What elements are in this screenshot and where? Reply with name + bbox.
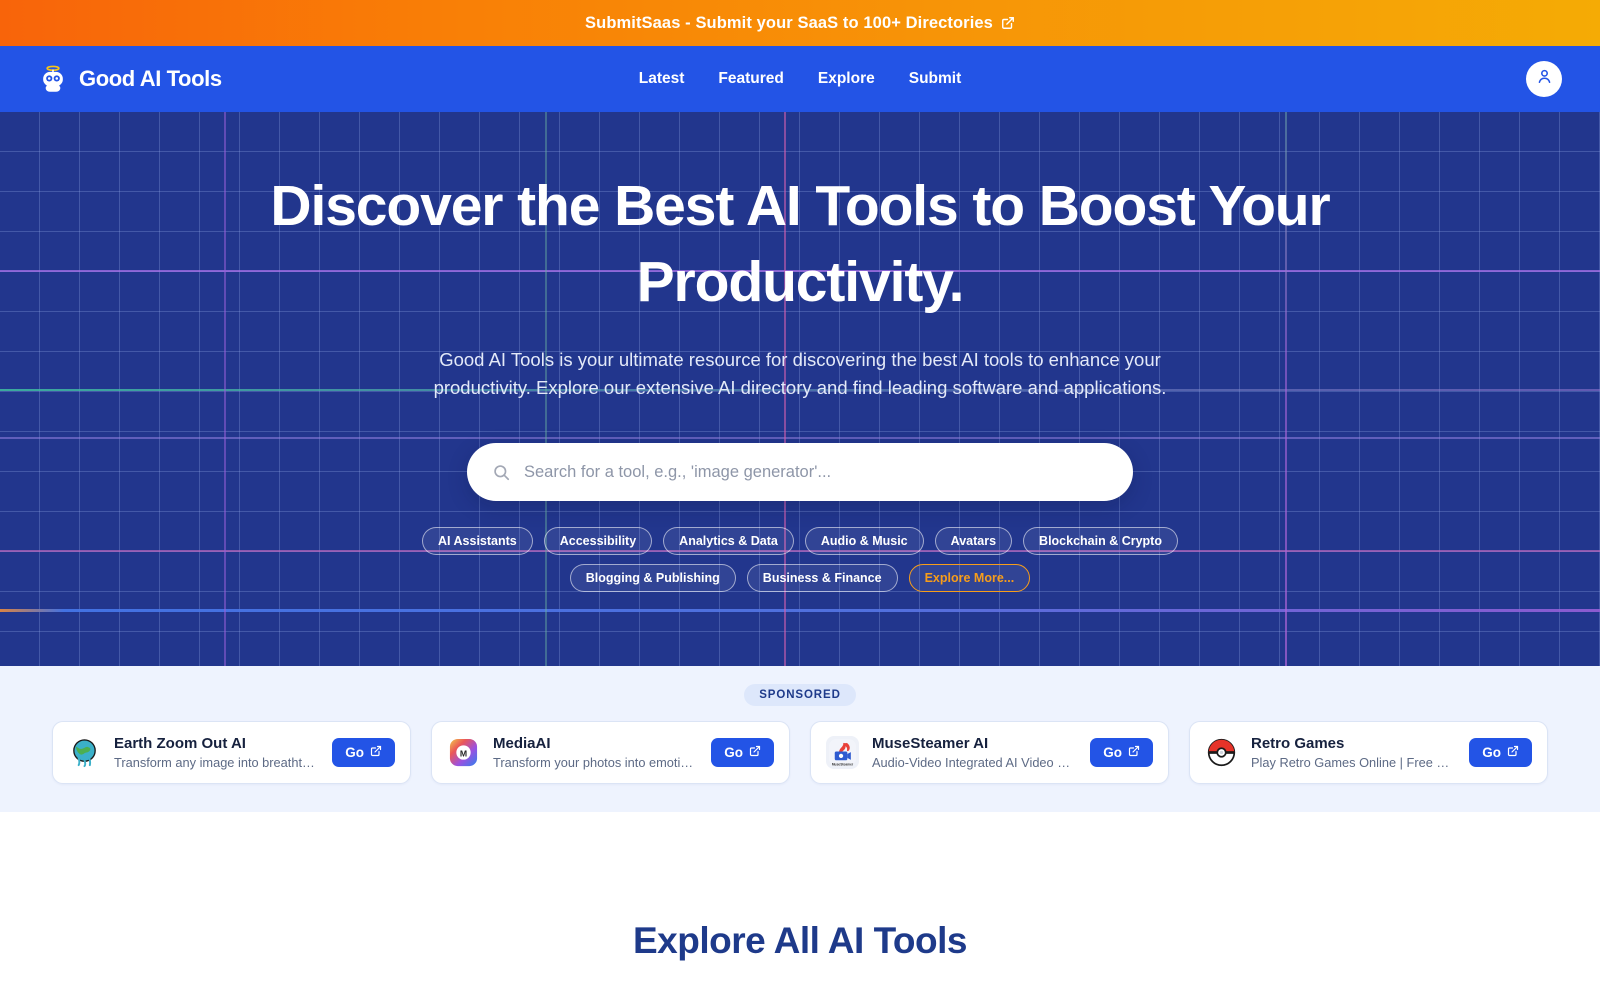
sponsored-card-list: Earth Zoom Out AI Transform any image in… (0, 721, 1600, 784)
promo-banner[interactable]: SubmitSaas - Submit your SaaS to 100+ Di… (0, 0, 1600, 46)
sponsored-card-description: Audio-Video Integrated AI Video Generato… (872, 755, 1077, 770)
user-icon (1535, 67, 1554, 91)
sponsored-card-description: Play Retro Games Online | Free Browser… (1251, 755, 1456, 770)
category-chip-audio-music[interactable]: Audio & Music (805, 527, 924, 555)
sponsored-section: SPONSORED Earth Zoom Out AI Transform an… (0, 666, 1600, 812)
category-chip-analytics-data[interactable]: Analytics & Data (663, 527, 794, 555)
musesteamer-icon: MuseSteamer (826, 736, 859, 769)
accent-line-blue (0, 609, 1600, 612)
category-chip-ai-assistants[interactable]: AI Assistants (422, 527, 533, 555)
sponsored-go-label: Go (724, 745, 743, 760)
sponsored-go-button[interactable]: Go (1469, 738, 1532, 767)
sponsored-card-title: MuseSteamer AI (872, 735, 1077, 752)
explore-section-title: Explore All AI Tools (0, 920, 1600, 962)
brand-name: Good AI Tools (79, 66, 222, 92)
external-link-icon (1001, 16, 1015, 30)
mediaai-gradient-icon: M (447, 736, 480, 769)
search-bar[interactable] (467, 443, 1133, 501)
category-chip-business-finance[interactable]: Business & Finance (747, 564, 898, 592)
sponsored-go-label: Go (345, 745, 364, 760)
nav-item-submit[interactable]: Submit (909, 70, 962, 88)
nav-item-latest[interactable]: Latest (639, 70, 685, 88)
sponsored-card-title: Retro Games (1251, 735, 1456, 752)
hero-section: Discover the Best AI Tools to Boost Your… (0, 112, 1600, 666)
sponsored-card-description: Transform any image into breathtaking E… (114, 755, 319, 770)
external-link-icon (749, 745, 761, 760)
robot-halo-icon (38, 64, 68, 94)
promo-banner-label: SubmitSaas - Submit your SaaS to 100+ Di… (585, 14, 993, 33)
sponsored-badge: SPONSORED (744, 684, 856, 706)
account-button[interactable] (1526, 61, 1562, 97)
sponsored-go-button[interactable]: Go (711, 738, 774, 767)
sponsored-card-title: MediaAI (493, 735, 698, 752)
external-link-icon (370, 745, 382, 760)
svg-text:M: M (460, 748, 467, 758)
primary-nav: Latest Featured Explore Submit (639, 70, 962, 88)
hero-title: Discover the Best AI Tools to Boost Your… (210, 168, 1390, 320)
svg-text:MuseSteamer: MuseSteamer (832, 762, 854, 766)
external-link-icon (1507, 745, 1519, 760)
pokeball-icon (1205, 736, 1238, 769)
category-chip-list: AI Assistants Accessibility Analytics & … (370, 527, 1230, 592)
category-chip-blockchain-crypto[interactable]: Blockchain & Crypto (1023, 527, 1178, 555)
brand-logo-link[interactable]: Good AI Tools (38, 64, 222, 94)
explore-more-button[interactable]: Explore More... (909, 564, 1031, 592)
sponsored-go-button[interactable]: Go (1090, 738, 1153, 767)
explore-all-section: Explore All AI Tools Discover the latest… (0, 812, 1600, 1000)
hero-subtitle: Good AI Tools is your ultimate resource … (428, 346, 1173, 401)
sponsored-card[interactable]: Retro Games Play Retro Games Online | Fr… (1189, 721, 1548, 784)
category-chip-accessibility[interactable]: Accessibility (544, 527, 652, 555)
sponsored-card[interactable]: MuseSteamer MuseSteamer AI Audio-Video I… (810, 721, 1169, 784)
earth-globe-icon (68, 736, 101, 769)
sponsored-go-button[interactable]: Go (332, 738, 395, 767)
nav-item-explore[interactable]: Explore (818, 70, 875, 88)
search-input[interactable] (524, 463, 1108, 482)
sponsored-go-label: Go (1482, 745, 1501, 760)
category-chip-avatars[interactable]: Avatars (935, 527, 1012, 555)
category-chip-blogging-publishing[interactable]: Blogging & Publishing (570, 564, 736, 592)
search-icon (492, 463, 511, 482)
sponsored-card-title: Earth Zoom Out AI (114, 735, 319, 752)
sponsored-card[interactable]: M MediaAI Transform your photos into emo… (431, 721, 790, 784)
nav-item-featured[interactable]: Featured (718, 70, 783, 88)
external-link-icon (1128, 745, 1140, 760)
sponsored-card[interactable]: Earth Zoom Out AI Transform any image in… (52, 721, 411, 784)
sponsored-go-label: Go (1103, 745, 1122, 760)
promo-banner-link[interactable]: SubmitSaas - Submit your SaaS to 100+ Di… (585, 14, 1015, 33)
main-navbar: Good AI Tools Latest Featured Explore Su… (0, 46, 1600, 112)
sponsored-card-description: Transform your photos into emotional art… (493, 755, 698, 770)
